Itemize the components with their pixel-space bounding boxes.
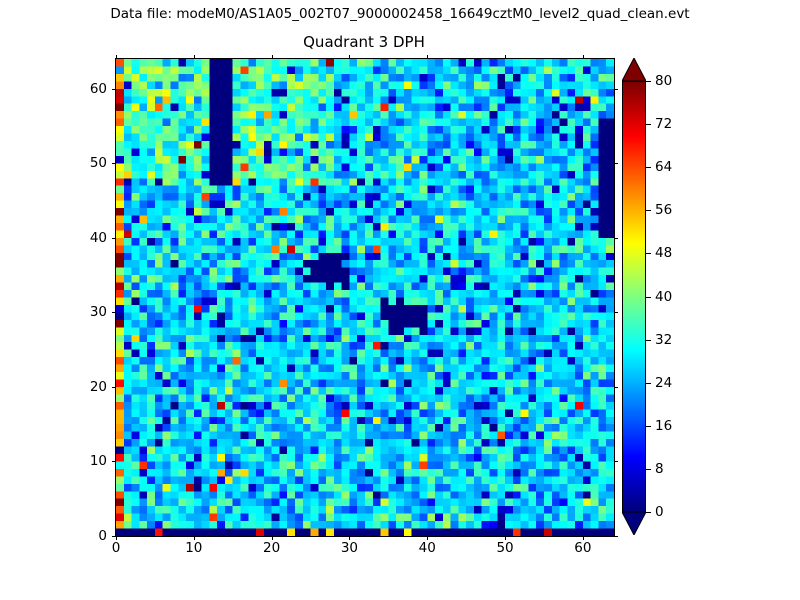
y-tick-mark [614,163,618,164]
x-tick-mark [116,55,117,59]
colorbar-tick-label: 40 [655,289,672,305]
y-tick-mark [112,312,116,313]
x-tick-label: 60 [574,540,591,556]
colorbar-tick-mark [646,426,651,427]
x-tick-label: 40 [419,540,436,556]
x-tick-label: 50 [496,540,513,556]
colorbar-tick-mark [646,340,651,341]
x-tick-mark [583,55,584,59]
colorbar-over-arrow-icon [622,58,646,81]
heatmap-image[interactable] [116,59,614,536]
x-tick-label: 0 [112,540,121,556]
data-file-suptitle: Data file: modeM0/AS1A05_002T07_90000024… [0,6,800,22]
y-tick-mark [614,461,618,462]
colorbar-tick-mark [646,81,651,82]
colorbar-tick-label: 24 [655,375,672,391]
y-tick-label: 40 [90,230,107,246]
y-tick-label: 20 [90,379,107,395]
y-tick-mark [112,461,116,462]
colorbar-tick-mark [646,512,651,513]
y-tick-mark [112,163,116,164]
colorbar-tick-mark [646,253,651,254]
colorbar-tick-label: 80 [655,73,672,89]
colorbar-tick-label: 56 [655,202,672,218]
y-tick-mark [614,238,618,239]
colorbar-tick-label: 72 [655,116,672,132]
y-tick-mark [112,536,116,537]
y-tick-mark [614,312,618,313]
y-tick-mark [614,536,618,537]
colorbar[interactable]: 08162432404856647280 [622,58,646,535]
y-tick-label: 50 [90,155,107,171]
y-tick-mark [614,387,618,388]
colorbar-tick-label: 8 [655,461,664,477]
colorbar-tick-label: 16 [655,418,672,434]
x-tick-mark [349,55,350,59]
x-tick-mark [272,55,273,59]
colorbar-tick-label: 0 [655,504,664,520]
x-tick-mark [505,55,506,59]
colorbar-tick-mark [646,297,651,298]
colorbar-tick-label: 48 [655,245,672,261]
heatmap-axes[interactable]: 0102030405060 0102030405060 [115,58,615,537]
y-tick-label: 30 [90,304,107,320]
colorbar-tick-mark [646,469,651,470]
x-tick-label: 10 [185,540,202,556]
x-tick-mark [194,55,195,59]
colorbar-tick-mark [646,383,651,384]
colorbar-tick-label: 32 [655,332,672,348]
colorbar-tick-mark [646,167,651,168]
y-tick-label: 10 [90,453,107,469]
x-tick-label: 20 [263,540,280,556]
plot-title: Quadrant 3 DPH [115,33,613,51]
colorbar-gradient [622,81,646,512]
colorbar-tick-label: 64 [655,159,672,175]
x-tick-mark [427,55,428,59]
y-tick-label: 0 [98,528,107,544]
colorbar-tick-mark [646,210,651,211]
y-tick-mark [112,387,116,388]
x-tick-label: 30 [341,540,358,556]
figure-canvas: Data file: modeM0/AS1A05_002T07_90000024… [0,0,800,600]
y-tick-label: 60 [90,81,107,97]
y-tick-mark [614,89,618,90]
colorbar-tick-mark [646,124,651,125]
y-tick-mark [112,238,116,239]
colorbar-under-arrow-icon [622,512,646,535]
y-tick-mark [112,89,116,90]
